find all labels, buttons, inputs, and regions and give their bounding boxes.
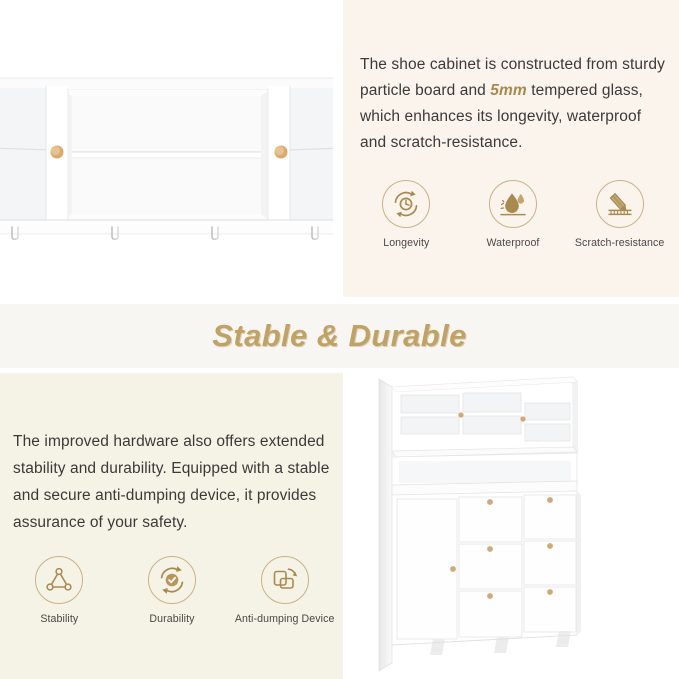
longevity-clock-arrows-icon [382, 180, 430, 228]
bottom-feature-row: Stability Durability [3, 556, 341, 625]
feature-stability: Stability [7, 556, 111, 625]
top-right-paragraph: The shoe cabinet is constructed from stu… [360, 52, 670, 156]
feature-durability: Durability [120, 556, 224, 625]
durability-check-arrows-icon [148, 556, 196, 604]
feature-waterproof-label: Waterproof [461, 237, 565, 249]
feature-anti-dumping: Anti-dumping Device [233, 556, 337, 625]
feature-waterproof: Waterproof [461, 180, 565, 249]
bottom-left-paragraph: The improved hardware also offers extend… [13, 428, 338, 536]
top-right-text-panel: The shoe cabinet is constructed from stu… [343, 0, 679, 297]
stability-triangle-icon [35, 556, 83, 604]
top-left-product-photo [0, 0, 333, 297]
feature-stability-label: Stability [7, 613, 111, 625]
bottom-left-text-panel: The improved hardware also offers extend… [0, 373, 343, 679]
feature-anti-dumping-label: Anti-dumping Device [233, 613, 337, 625]
bottom-right-product-photo [345, 373, 679, 679]
feature-longevity: Longevity [354, 180, 458, 249]
feature-scratch-resistance: Scratch-resistance [568, 180, 672, 249]
waterproof-droplet-icon [489, 180, 537, 228]
section-title-banner: Stable & Durable [0, 304, 679, 368]
feature-durability-label: Durability [120, 613, 224, 625]
infographic-page: The shoe cabinet is constructed from stu… [0, 0, 679, 679]
feature-scratch-resistance-label: Scratch-resistance [568, 237, 672, 249]
feature-longevity-label: Longevity [354, 237, 458, 249]
scratch-resistance-pencil-icon [596, 180, 644, 228]
top-feature-row: Longevity Waterproof [353, 180, 673, 249]
section-title: Stable & Durable [212, 318, 466, 354]
paragraph-highlight-5mm: 5mm [490, 82, 526, 99]
anti-dumping-tilt-icon [261, 556, 309, 604]
